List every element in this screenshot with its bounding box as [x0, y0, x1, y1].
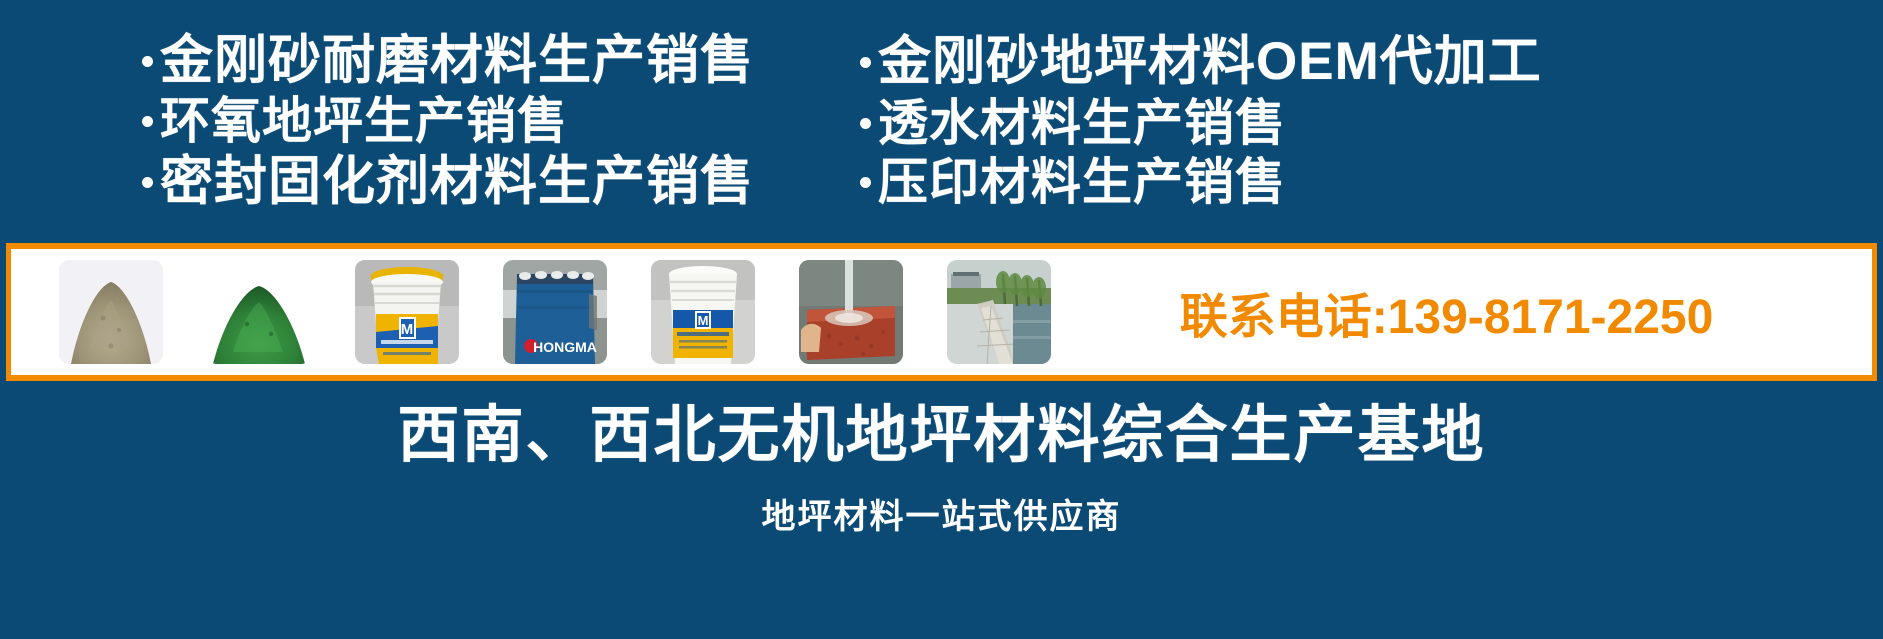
service-bullet-label: 金刚砂地坪材料OEM代加工: [878, 34, 1542, 90]
product-photo-rail: M: [11, 249, 1051, 375]
bullet-dot-icon: [860, 118, 871, 129]
service-bullet-item: 密封固化剂材料生产销售: [142, 154, 860, 210]
bullet-dot-icon: [142, 116, 153, 127]
company-subtitle: 地坪材料一站式供应商: [762, 489, 1122, 538]
bullet-dot-icon: [142, 177, 153, 188]
svg-text:M: M: [698, 313, 709, 328]
gray-powder-photo: [59, 260, 163, 364]
service-bullet-item: 压印材料生产销售: [860, 156, 1883, 209]
advertising-banner: 金刚砂耐磨材料生产销售 环氧地坪生产销售 密封固化剂材料生产销售 金刚砂地坪材料…: [0, 0, 1883, 639]
hongma-blue-drum-photo: HONGMA: [503, 260, 607, 364]
product-showcase-strip: M: [6, 243, 1877, 381]
white-pail-sealer-photo: M: [355, 260, 459, 364]
bullet-dot-icon: [142, 56, 153, 67]
service-bullet-item: 透水材料生产销售: [860, 97, 1883, 150]
service-bullet-item: 金刚砂地坪材料OEM代加工: [860, 34, 1883, 90]
bullet-dot-icon: [860, 177, 871, 188]
stamped-stone-path-photo: [947, 260, 1051, 364]
service-bullet-column-right: 金刚砂地坪材料OEM代加工 透水材料生产销售 压印材料生产销售: [860, 0, 1883, 243]
footer-slogan-area: 西南、西北无机地坪材料综合生产基地 地坪材料一站式供应商: [0, 381, 1883, 639]
service-bullet-area: 金刚砂耐磨材料生产销售 环氧地坪生产销售 密封固化剂材料生产销售 金刚砂地坪材料…: [0, 0, 1883, 243]
service-bullet-label: 压印材料生产销售: [878, 156, 1286, 209]
svg-text:HONGMA: HONGMA: [533, 339, 597, 355]
permeable-concrete-water-photo: [799, 260, 903, 364]
service-bullet-label: 环氧地坪生产销售: [160, 95, 568, 148]
service-bullet-item: 环氧地坪生产销售: [142, 95, 860, 148]
company-headline: 西南、西北无机地坪材料综合生产基地: [397, 397, 1485, 475]
service-bullet-item: 金刚砂耐磨材料生产销售: [142, 33, 860, 89]
service-bullet-label: 金刚砂耐磨材料生产销售: [160, 33, 754, 89]
contact-phone-area: 联系电话:139-8171-2250: [1051, 277, 1872, 347]
contact-phone-number[interactable]: 联系电话:139-8171-2250: [1180, 277, 1714, 347]
white-pail-epoxy-photo: M: [651, 260, 755, 364]
bullet-dot-icon: [860, 57, 871, 68]
service-bullet-label: 透水材料生产销售: [878, 97, 1286, 150]
svg-text:M: M: [401, 321, 414, 338]
service-bullet-label: 密封固化剂材料生产销售: [160, 154, 754, 210]
service-bullet-column-left: 金刚砂耐磨材料生产销售 环氧地坪生产销售 密封固化剂材料生产销售: [0, 0, 860, 243]
green-powder-photo: [207, 260, 311, 364]
